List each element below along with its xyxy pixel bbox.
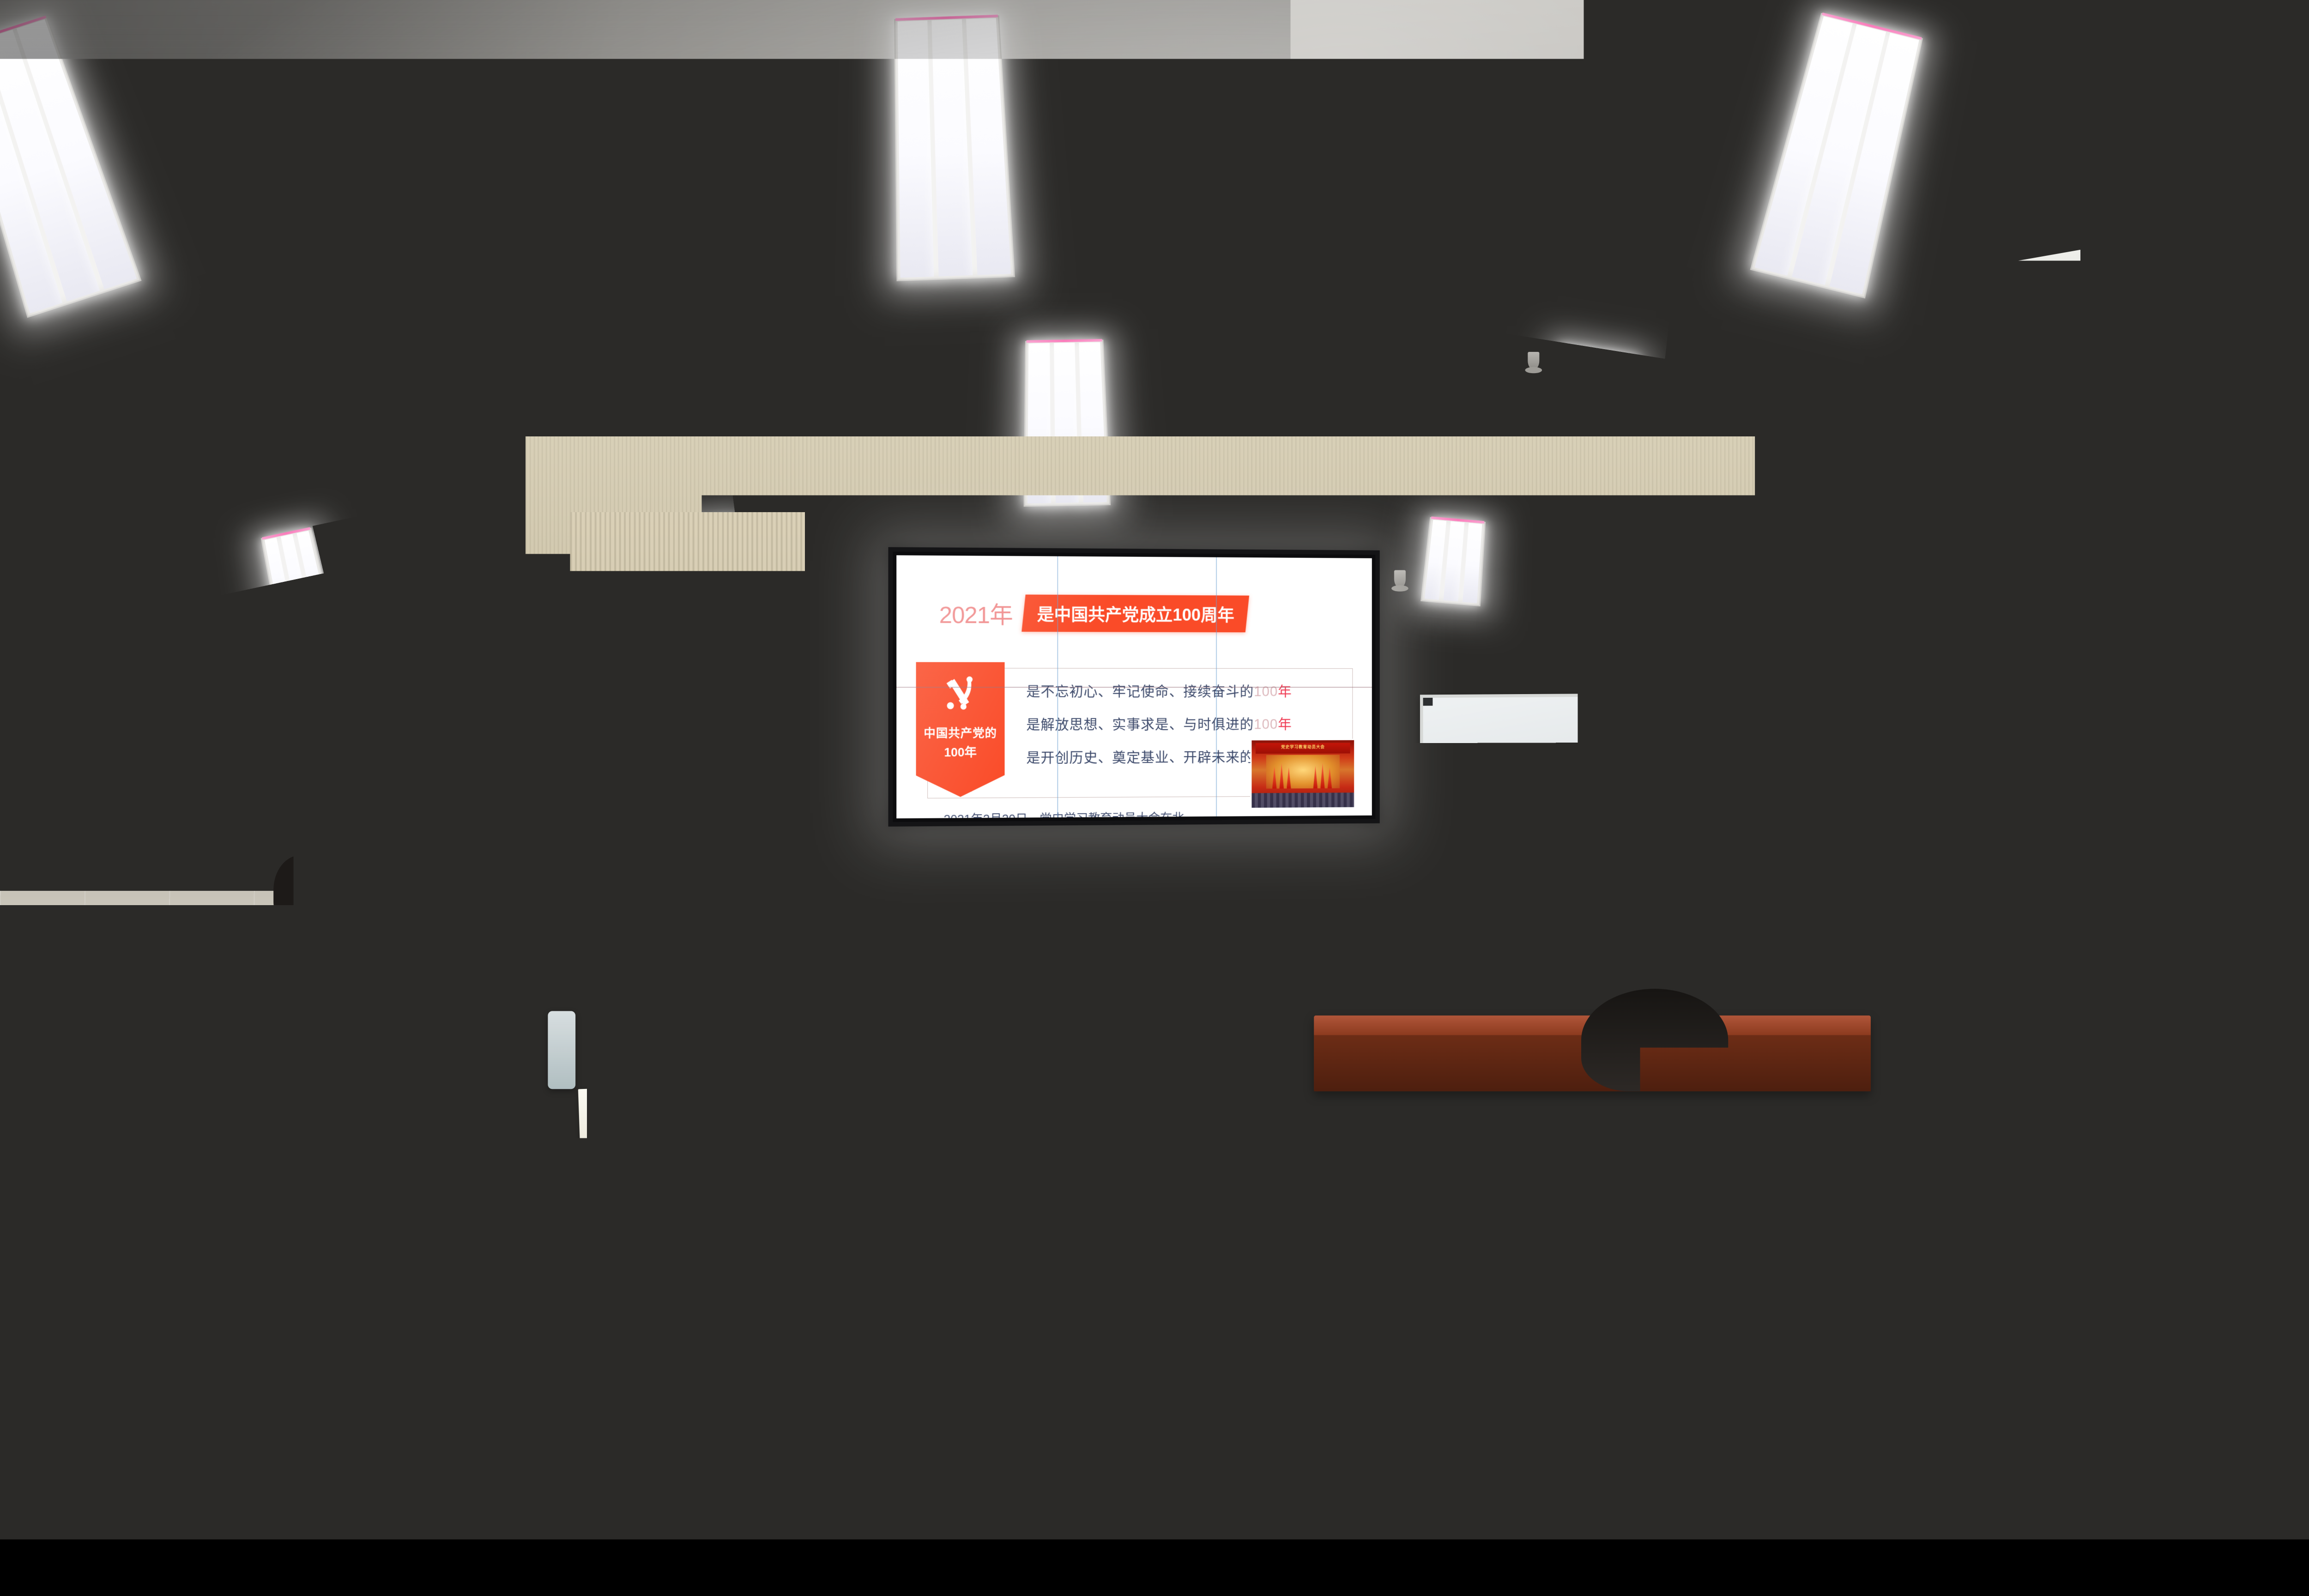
slide-title-banner: 是中国共产党成立100周年 xyxy=(1022,595,1249,633)
video-wall-display[interactable]: 2021年 是中国共产党成立100周年 xyxy=(888,547,1379,827)
slide-line-number: 100 xyxy=(1254,716,1278,732)
audience-member xyxy=(646,993,780,1180)
audience-member xyxy=(267,855,334,933)
hair xyxy=(822,844,876,912)
audience-member xyxy=(1465,842,1532,918)
presenter-head xyxy=(1245,807,1295,863)
speaker-badge xyxy=(671,681,692,684)
hair xyxy=(1922,842,1979,914)
window-mullion xyxy=(2206,415,2212,597)
audience-member xyxy=(722,837,793,918)
paper-handout xyxy=(1331,1102,1445,1152)
hair xyxy=(447,853,503,923)
chair-pad xyxy=(682,1342,886,1445)
audience-member xyxy=(1327,922,1427,1049)
audience-member xyxy=(1915,842,1986,924)
audience-member xyxy=(1554,837,1626,918)
video-wall-screen: 2021年 是中国共产党成立100周年 xyxy=(896,555,1372,818)
fire-sprinkler-head xyxy=(1528,352,1539,370)
water-bottle xyxy=(1099,893,1117,945)
hair xyxy=(2004,922,2085,1033)
water-tumbler xyxy=(548,1011,575,1089)
hair xyxy=(2216,846,2277,922)
hair xyxy=(1740,833,1799,908)
slide-title-banner-text: 是中国共产党成立100周年 xyxy=(1037,600,1234,626)
presenter-right xyxy=(1198,793,1341,918)
audience-member xyxy=(1973,1069,2125,1256)
audience-member xyxy=(815,844,882,920)
hair xyxy=(273,855,328,925)
audience-member xyxy=(784,926,880,1046)
hair xyxy=(659,993,762,1172)
reflection-line: 是不忘初心、牢记使命、接续奋斗的 xyxy=(1005,1151,1221,1168)
hair xyxy=(2016,833,2077,912)
audience-member xyxy=(530,918,628,1042)
hammer-and-sickle-emblem xyxy=(939,674,982,717)
fire-sprinkler-head xyxy=(771,370,782,388)
window xyxy=(1950,462,2106,647)
audience-member xyxy=(2111,842,2185,926)
panel-seam-horizontal xyxy=(896,687,1372,688)
tote-bag xyxy=(1189,1203,1310,1345)
chair-knob xyxy=(851,1100,862,1110)
hair xyxy=(1870,926,1947,1034)
slide-line-text: 是不忘初心、牢记使命、接续奋斗的 xyxy=(1026,683,1254,699)
reflection-line: 是解放思想、实事求是、与时俱进的 xyxy=(997,1189,1230,1208)
laptop[interactable] xyxy=(947,866,1022,921)
window-mullion xyxy=(2023,479,2030,630)
bottle-label xyxy=(1099,912,1117,931)
reflection-banner xyxy=(1076,1411,1325,1460)
hair xyxy=(644,844,698,909)
hair xyxy=(1469,918,1547,1026)
audience-member xyxy=(2009,833,2085,922)
whiteboard-corner xyxy=(1423,698,1433,706)
slide-title-row: 2021年 是中国共产党成立100周年 xyxy=(939,594,1247,633)
audience-member xyxy=(352,846,423,929)
audience-member xyxy=(637,844,704,918)
hair xyxy=(795,926,870,1030)
slide-line-text: 是解放思想、实事求是、与时俱进的 xyxy=(1026,717,1254,733)
recessed-fluorescent-troffer xyxy=(894,15,1015,281)
slide-line: 是解放思想、实事求是、与时俱进的100年 xyxy=(1026,713,1345,734)
chair xyxy=(659,1318,908,1470)
hair xyxy=(1987,1069,2111,1239)
whiteboard-corner xyxy=(1662,696,1673,705)
hair xyxy=(1654,844,1708,911)
attendee-green-floral xyxy=(1586,997,1773,1109)
bottle-cap xyxy=(1102,888,1114,895)
audience-member xyxy=(1733,833,1806,918)
audience-member xyxy=(1648,844,1715,919)
hair xyxy=(2117,842,2177,916)
wall-speaker-left xyxy=(659,618,707,694)
water-tumbler xyxy=(1461,1038,1501,1171)
slide-ribbon-line1: 中国共产党的 xyxy=(924,724,997,741)
attendee-striped-top xyxy=(1586,1034,2309,1540)
audience-member xyxy=(559,840,626,915)
chair-knob xyxy=(1522,1279,1533,1288)
window xyxy=(2111,394,2309,617)
hair xyxy=(1562,837,1619,907)
hair xyxy=(542,918,617,1023)
slide-ribbon-badge: 中国共产党的 100年 xyxy=(916,662,1005,797)
hair xyxy=(1340,922,1415,1028)
chair-knob xyxy=(672,1314,684,1324)
hair xyxy=(1829,837,1886,909)
audience-member xyxy=(2209,846,2285,933)
slide-ribbon-line2: 100年 xyxy=(944,743,977,760)
nameplate-right xyxy=(1198,929,1255,955)
audience-member xyxy=(441,853,510,932)
slide-line-text: 是开创历史、奠定基业、开辟未来的 xyxy=(1026,749,1254,765)
slide-line-unit: 年 xyxy=(1278,684,1292,700)
presenter-glasses xyxy=(1006,834,1049,844)
chair-knob xyxy=(884,1314,895,1324)
hair xyxy=(1384,837,1439,907)
audience-member xyxy=(1376,837,1445,915)
light-tube xyxy=(932,19,973,277)
hall-banner-text: 党史学习教育动员大会 xyxy=(1251,744,1354,750)
conference-room-photo: 2021年 是中国共产党成立100周年 xyxy=(0,0,2309,1539)
slide-line-unit: 年 xyxy=(1278,716,1292,732)
slide-year-label: 2021年 xyxy=(939,596,1013,630)
hair xyxy=(359,846,417,919)
hair xyxy=(730,837,786,908)
audience-member xyxy=(1822,837,1893,919)
torso xyxy=(1586,997,1773,1109)
wall-camera xyxy=(1586,668,1597,695)
hair xyxy=(1472,842,1526,909)
slide-line-number: 100 xyxy=(1254,684,1278,700)
hair xyxy=(567,840,620,907)
slide-line: 是不忘初心、牢记使命、接续奋斗的100年 xyxy=(1026,680,1345,701)
light-tube xyxy=(898,20,934,278)
